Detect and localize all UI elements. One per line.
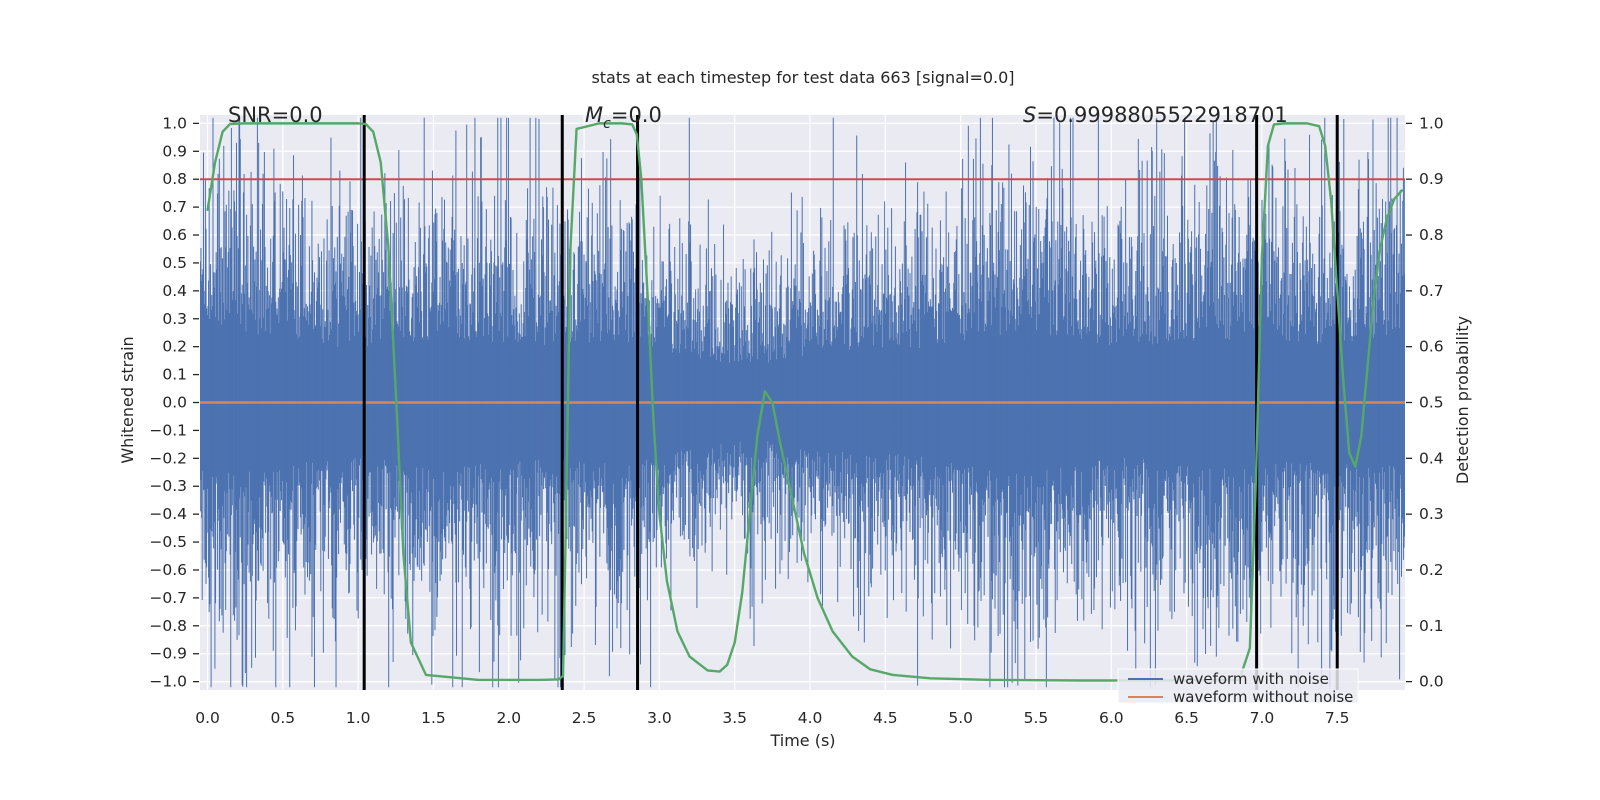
y-tick-label-left: 0.3 [162,310,187,328]
x-tick-label: 2.0 [496,709,521,727]
annotation-score: S=0.9998805522918701 [1023,103,1288,127]
x-tick-label: 3.5 [722,709,747,727]
x-tick-label: 6.5 [1174,709,1199,727]
y-tick-label-left: −0.5 [149,533,187,551]
x-tick-label: 0.5 [271,709,296,727]
y-tick-label-left: −1.0 [149,673,187,691]
y-tick-label-right: 0.9 [1419,170,1444,188]
y-tick-label-left: 0.2 [162,338,187,356]
score-equals: = [1036,103,1054,127]
y-tick-label-right: 0.3 [1419,505,1444,523]
x-tick-label: 4.0 [798,709,823,727]
y-tick-label-left: −0.1 [149,421,187,439]
y-tick-label-left: −0.9 [149,645,187,663]
y-tick-label-right: 0.1 [1419,617,1444,635]
y-tick-label-left: −0.6 [149,561,187,579]
legend[interactable]: waveform with noise waveform without noi… [1118,669,1358,706]
y-axis-label-left: Whitened strain [118,336,137,463]
y-tick-label-left: −0.8 [149,617,187,635]
svg-text:S=0.9998805522918701: S=0.9998805522918701 [1023,103,1288,127]
svg-text:SNR=0.0: SNR=0.0 [228,103,323,127]
y-tick-label-right: 0.4 [1419,449,1444,467]
y-tick-label-right: 0.2 [1419,561,1444,579]
y-tick-label-left: −0.3 [149,477,187,495]
legend-label-waveform-with-noise: waveform with noise [1173,670,1329,688]
plot-svg: 0.00.51.01.52.02.53.03.54.04.55.05.56.06… [0,0,1600,800]
page-title: stats at each timestep for test data 663… [591,68,1014,87]
y-tick-label-right: 0.0 [1419,673,1444,691]
y-tick-label-left: 0.5 [162,254,187,272]
x-tick-label: 4.5 [873,709,898,727]
figure-canvas: 0.00.51.01.52.02.53.03.54.04.55.05.56.06… [0,0,1600,800]
y-tick-label-left: 0.4 [162,282,187,300]
y-tick-label-right: 0.7 [1419,282,1444,300]
annotation-snr: SNR=0.0 [228,103,323,127]
y-tick-label-left: 0.0 [162,394,187,412]
y-tick-label-left: 0.7 [162,198,187,216]
y-tick-label-left: 0.6 [162,226,187,244]
y-tick-label-right: 0.6 [1419,338,1444,356]
x-axis-label: Time (s) [769,731,835,750]
y-tick-label-left: 0.1 [162,366,187,384]
x-tick-label: 1.0 [346,709,371,727]
mchirp-value: 0.0 [628,103,661,127]
snr-label: SNR= [228,103,289,127]
y-tick-label-right: 0.5 [1419,394,1444,412]
y-tick-label-right: 1.0 [1419,114,1444,132]
legend-label-waveform-without-noise: waveform without noise [1173,688,1353,706]
score-value: 0.9998805522918701 [1054,103,1288,127]
x-tick-label: 5.0 [948,709,973,727]
y-tick-label-left: −0.4 [149,505,187,523]
x-tick-label: 7.0 [1250,709,1275,727]
x-tick-label: 3.0 [647,709,672,727]
y-tick-label-left: −0.2 [149,449,187,467]
x-tick-label: 6.0 [1099,709,1124,727]
x-tick-label: 2.5 [572,709,597,727]
y-tick-label-left: 0.8 [162,170,187,188]
y-tick-label-left: 1.0 [162,114,187,132]
y-tick-label-right: 0.8 [1419,226,1444,244]
x-tick-label: 0.0 [195,709,220,727]
y-axis-label-right: Detection probability [1453,316,1472,484]
score-symbol: S [1023,103,1036,127]
x-tick-label: 7.5 [1325,709,1350,727]
x-tick-label: 1.5 [421,709,446,727]
x-tick-label: 5.5 [1024,709,1049,727]
y-tick-label-left: −0.7 [149,589,187,607]
mchirp-symbol: M [585,103,603,127]
y-tick-label-left: 0.9 [162,142,187,160]
mchirp-equals: = [611,103,629,127]
snr-value: 0.0 [289,103,322,127]
